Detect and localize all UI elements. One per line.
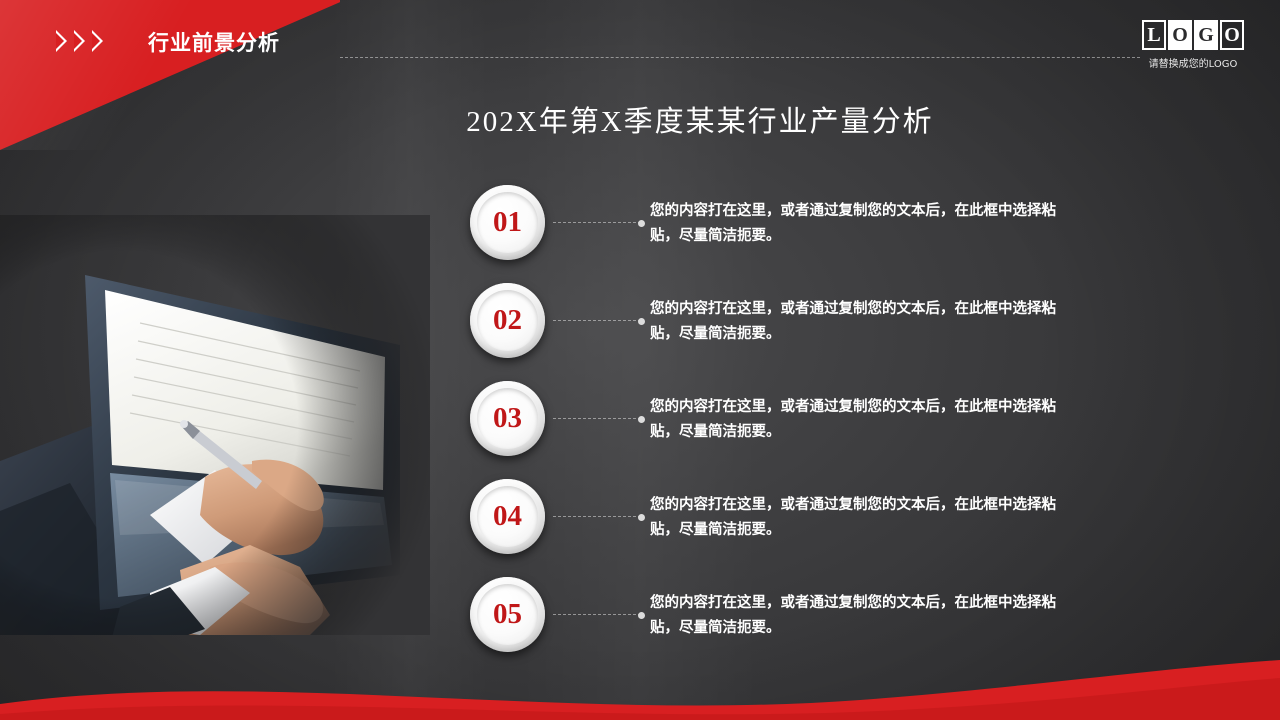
item-number-badge[interactable]: 03 [470, 381, 545, 456]
logo-letter: G [1194, 20, 1218, 50]
item-text: 您的内容打在这里，或者通过复制您的文本后，在此框中选择粘贴，尽量简洁扼要。 [650, 199, 1080, 250]
page-title: 202X年第X季度某某行业产量分析 [0, 98, 1280, 140]
item-connector-line [553, 320, 641, 321]
item-connector-line [553, 418, 641, 419]
item-number-badge[interactable]: 05 [470, 577, 545, 652]
logo: L O G O 请替换成您的LOGO [1142, 20, 1244, 70]
item-text: 您的内容打在这里，或者通过复制您的文本后，在此框中选择粘贴，尽量简洁扼要。 [650, 297, 1080, 348]
section-label: 行业前景分析 [148, 27, 280, 57]
slide-canvas: 行业前景分析 L O G O 请替换成您的LOGO 202X年第X季度某某行业产… [0, 0, 1280, 720]
item-text: 您的内容打在这里，或者通过复制您的文本后，在此框中选择粘贴，尽量简洁扼要。 [650, 591, 1080, 642]
item-connector-line [553, 516, 641, 517]
double-chevron-right-icon [56, 30, 110, 52]
logo-letter: O [1220, 20, 1244, 50]
logo-letter: O [1168, 20, 1192, 50]
item-text: 您的内容打在这里，或者通过复制您的文本后，在此框中选择粘贴，尽量简洁扼要。 [650, 493, 1080, 544]
item-number-badge[interactable]: 04 [470, 479, 545, 554]
list-item: 02 您的内容打在这里，或者通过复制您的文本后，在此框中选择粘贴，尽量简洁扼要。 [470, 283, 1110, 381]
footer-red-wave [0, 660, 1280, 720]
list-item: 04 您的内容打在这里，或者通过复制您的文本后，在此框中选择粘贴，尽量简洁扼要。 [470, 479, 1110, 577]
list-item: 01 您的内容打在这里，或者通过复制您的文本后，在此框中选择粘贴，尽量简洁扼要。 [470, 185, 1110, 283]
numbered-list: 01 您的内容打在这里，或者通过复制您的文本后，在此框中选择粘贴，尽量简洁扼要。… [470, 185, 1110, 675]
item-connector-line [553, 222, 641, 223]
item-text: 您的内容打在这里，或者通过复制您的文本后，在此框中选择粘贴，尽量简洁扼要。 [650, 395, 1080, 446]
logo-letter: L [1142, 20, 1166, 50]
item-number: 03 [477, 388, 538, 449]
logo-caption: 请替换成您的LOGO [1142, 55, 1244, 70]
list-item: 03 您的内容打在这里，或者通过复制您的文本后，在此框中选择粘贴，尽量简洁扼要。 [470, 381, 1110, 479]
item-number: 05 [477, 584, 538, 645]
item-number: 02 [477, 290, 538, 351]
item-number-badge[interactable]: 01 [470, 185, 545, 260]
item-number-badge[interactable]: 02 [470, 283, 545, 358]
item-number: 04 [477, 486, 538, 547]
logo-letters: L O G O [1142, 20, 1244, 50]
header-divider [340, 57, 1140, 58]
item-connector-line [553, 614, 641, 615]
item-number: 01 [477, 192, 538, 253]
businessman-writing-on-notebook-photo [0, 215, 430, 635]
